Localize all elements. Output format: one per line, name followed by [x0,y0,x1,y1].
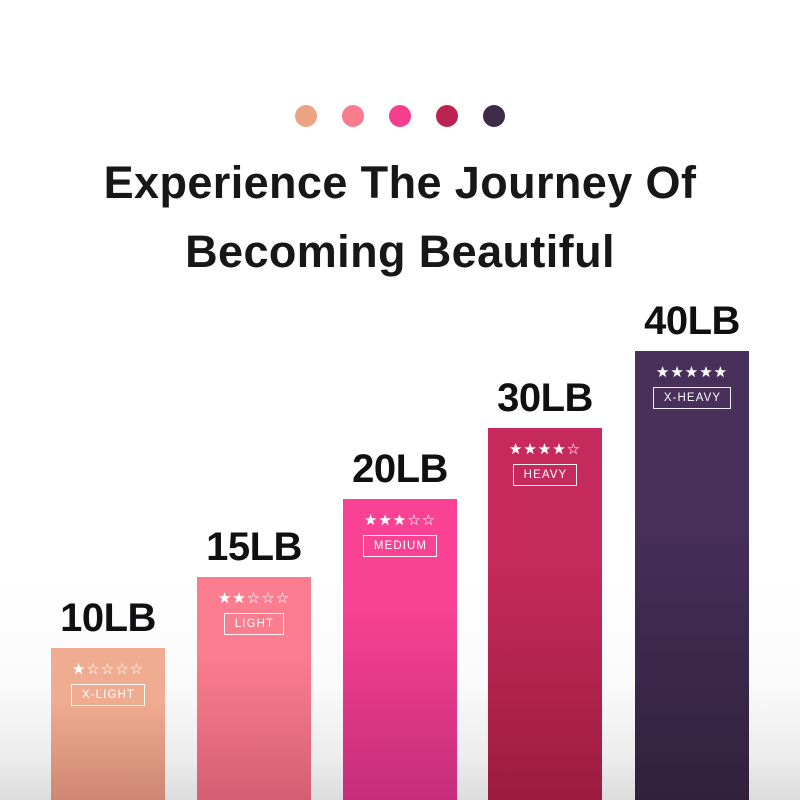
star-rating-icon: ★★★☆☆ [364,513,436,528]
bar-rect[interactable]: ★★☆☆☆LIGHT [197,577,311,800]
bar-content: ★★☆☆☆LIGHT [197,577,311,635]
star-rating-icon: ★★★★★ [656,365,728,380]
resistance-level-badge: HEAVY [513,464,578,486]
bar-value-label: 15LB [197,525,311,569]
bar-content: ★☆☆☆☆X-LIGHT [51,648,165,706]
bar-group-30lb[interactable]: 30LB★★★★☆HEAVY [488,428,602,800]
poster-root: Experience The Journey Of Becoming Beaut… [0,0,800,800]
star-rating-icon: ★☆☆☆☆ [72,662,144,677]
bar-content: ★★★★★X-HEAVY [635,351,749,409]
bar-group-15lb[interactable]: 15LB★★☆☆☆LIGHT [197,577,311,800]
bar-rect[interactable]: ★★★★☆HEAVY [488,428,602,800]
resistance-level-bar-chart: 10LB★☆☆☆☆X-LIGHT15LB★★☆☆☆LIGHT20LB★★★☆☆M… [0,0,800,800]
bar-group-10lb[interactable]: 10LB★☆☆☆☆X-LIGHT [51,648,165,800]
bar-value-label: 20LB [343,447,457,491]
bar-rect[interactable]: ★★★☆☆MEDIUM [343,499,457,800]
bar-content: ★★★☆☆MEDIUM [343,499,457,557]
bar-value-label: 40LB [635,299,749,343]
resistance-level-badge: X-HEAVY [653,387,731,409]
resistance-level-badge: MEDIUM [363,535,437,557]
bar-value-label: 30LB [488,376,602,420]
resistance-level-badge: X-LIGHT [71,684,145,706]
bar-value-label: 10LB [51,596,165,640]
bar-group-20lb[interactable]: 20LB★★★☆☆MEDIUM [343,499,457,800]
star-rating-icon: ★★★★☆ [509,442,581,457]
resistance-level-badge: LIGHT [224,613,284,635]
bar-content: ★★★★☆HEAVY [488,428,602,486]
bar-group-40lb[interactable]: 40LB★★★★★X-HEAVY [635,351,749,800]
bar-rect[interactable]: ★☆☆☆☆X-LIGHT [51,648,165,800]
star-rating-icon: ★★☆☆☆ [218,591,290,606]
bar-rect[interactable]: ★★★★★X-HEAVY [635,351,749,800]
